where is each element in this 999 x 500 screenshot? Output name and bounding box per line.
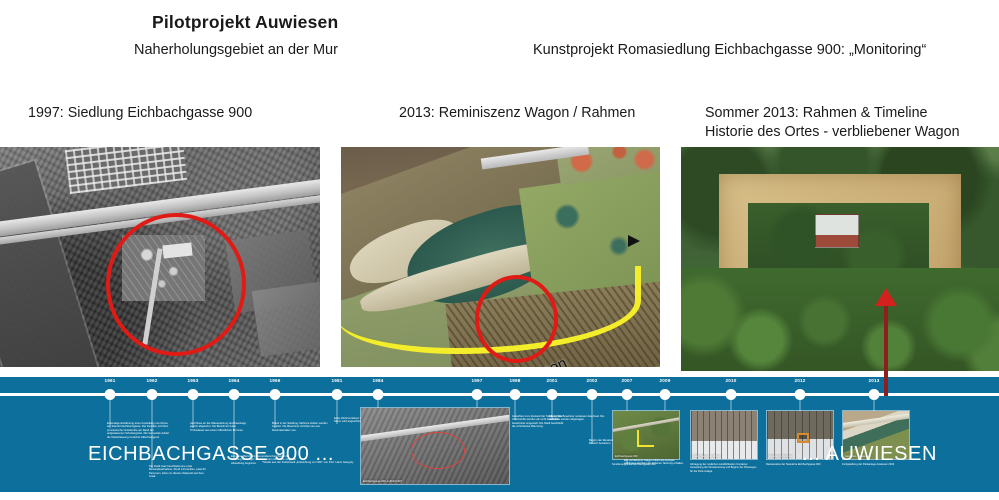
highlight-circle-icon <box>475 275 558 363</box>
timeline-year-label: 2012 <box>794 378 805 383</box>
timeline-dot[interactable] <box>622 389 633 400</box>
timeline-footnote: *Studie aus der Kulturstadt „Entstehung … <box>262 460 353 464</box>
timeline-year-label: 2001 <box>546 378 557 383</box>
thumbnail-caption: Rahmen im Schnee <box>769 455 792 458</box>
highlight-circle-icon <box>411 432 464 468</box>
timeline-note: Die letzten Bewohner verlassen das Areal… <box>549 415 605 422</box>
highlight-circle-icon <box>106 213 247 356</box>
timeline-dot[interactable] <box>660 389 671 400</box>
timeline-note: Erstmalige Erwähnung einer Ansiedlung vo… <box>107 422 169 439</box>
timeline-year-label: 1966 <box>269 378 280 383</box>
timeline-dot[interactable] <box>147 389 158 400</box>
remaining-wagon <box>815 214 860 248</box>
timeline-year-label: 2007 <box>621 378 632 383</box>
page-subtitle: Naherholungsgebiet an der Mur <box>134 42 338 58</box>
timeline-year-label: 1984 <box>372 378 383 383</box>
timeline-dot[interactable] <box>795 389 806 400</box>
photo-aerial-2013: Freizeitareal Auwiesen Wagon R2 Monitor/… <box>341 147 660 367</box>
photo-wooden-frame-2013 <box>681 147 999 371</box>
caption-column-3-line2: Historie des Ortes - verbliebener Wagon <box>705 124 960 140</box>
thumbnail-caption: Reste Wagon im Winter <box>693 455 720 458</box>
timeline-dot[interactable] <box>510 389 521 400</box>
timeline-thumbnail[interactable]: Reste Wagon im Winter <box>690 410 758 460</box>
caption-column-1: 1997: Siedlung Eichbachgasse 900 <box>28 105 252 121</box>
timeline-year-label: 1981 <box>331 378 342 383</box>
thumbnail-caption: Eichbachgasse 900 <box>615 455 638 458</box>
timeline-dot[interactable] <box>229 389 240 400</box>
timeline-year-label: 2002 <box>586 378 597 383</box>
timeline-dot[interactable] <box>373 389 384 400</box>
page-title: Pilotprojekt Auwiesen <box>152 12 338 33</box>
timeline-thumbnail-description: Abtragung der restlichen Ländlichkeiten … <box>690 463 758 473</box>
farm-field <box>252 281 320 356</box>
timeline-year-label: 1963 <box>187 378 198 383</box>
timeline-year-label: 1962 <box>146 378 157 383</box>
timeline-thumbnail[interactable]: Eichbachgasse 900 <box>612 410 680 460</box>
timeline-note: Die Stadt Graz beschließt eine erste Bes… <box>149 465 211 479</box>
thumbnail-caption: Eichbachgasse 900, Luftbild 1997 <box>363 480 402 483</box>
timeline-banner: 1961Erstmalige Erwähnung einer Ansiedlun… <box>0 377 999 492</box>
timeline-dot[interactable] <box>188 389 199 400</box>
timeline-dot[interactable] <box>547 389 558 400</box>
caption-column-3-line1: Sommer 2013: Rahmen & Timeline <box>705 105 928 121</box>
caption-column-2: 2013: Reminiszenz Wagon / Rahmen <box>399 105 635 121</box>
timeline-dot[interactable] <box>472 389 483 400</box>
timeline-year-label: 2009 <box>659 378 670 383</box>
timeline-note: Anschluss an die Wasserleitung wird bean… <box>190 422 248 432</box>
timeline-dot[interactable] <box>105 389 116 400</box>
yellow-marking <box>637 430 654 446</box>
timeline-connector <box>592 400 593 444</box>
timeline-dot[interactable] <box>726 389 737 400</box>
timeline-year-label: 1998 <box>509 378 520 383</box>
red-arrow-up-icon <box>875 288 897 306</box>
route-arrow-icon <box>628 235 640 247</box>
timeline-year-label: 1961 <box>104 378 115 383</box>
timeline-dot[interactable] <box>270 389 281 400</box>
timeline-year-label: 1964 <box>228 378 239 383</box>
timeline-year-label: 1997 <box>471 378 482 383</box>
timeline-year-label: 2010 <box>725 378 736 383</box>
timeline-year-label: 2013 <box>868 378 879 383</box>
red-arrow-stem <box>884 302 888 396</box>
timeline-dot[interactable] <box>332 389 343 400</box>
timeline-dot[interactable] <box>587 389 598 400</box>
timeline-thumbnail[interactable]: Eichbachgasse 900, Luftbild 1997 <box>360 407 510 485</box>
timeline-dot[interactable] <box>869 389 880 400</box>
slide-canvas: Pilotprojekt Auwiesen Naherholungsgebiet… <box>0 0 999 500</box>
timeline-thumbnail-description: Sondierungsareal Eichbachgasse 900 <box>612 463 680 466</box>
timeline-note: Brand in der Siedlung. Mehrere Hütten we… <box>272 422 330 432</box>
frame-sculpture <box>797 433 809 443</box>
foreground-vegetation <box>681 268 999 371</box>
thumbnail-image <box>691 411 757 459</box>
photo-aerial-1997 <box>0 147 320 367</box>
project-subtitle-right: Kunstprojekt Romasiedlung Eichbachgasse … <box>533 42 926 58</box>
timeline-brand-right: ... AUWIESEN <box>802 443 937 466</box>
